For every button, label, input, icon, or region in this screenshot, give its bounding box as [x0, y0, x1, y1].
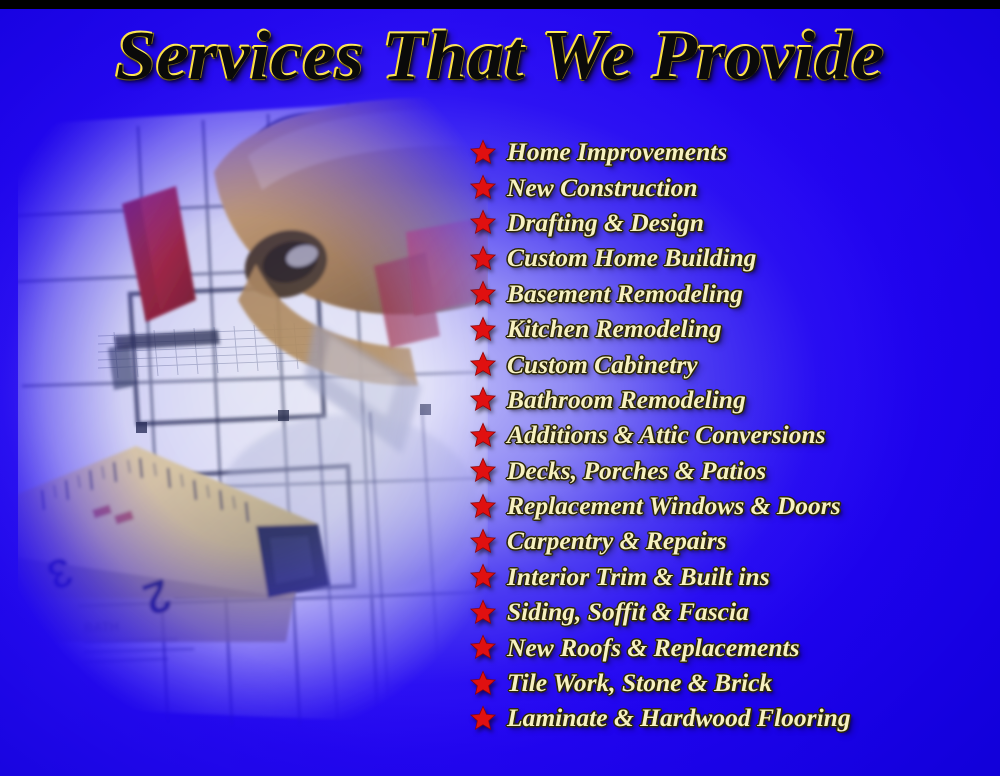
list-item: Carpentry & Repairs: [470, 524, 990, 559]
red-star-icon: [470, 316, 496, 342]
list-item-label: Custom Cabinetry: [507, 353, 698, 378]
red-star-icon: [470, 209, 496, 235]
red-star-icon: [470, 528, 496, 554]
list-item-label: New Construction: [507, 176, 698, 201]
list-item-label: Custom Home Building: [507, 246, 756, 271]
red-star-icon: [470, 599, 496, 625]
list-item: Home Improvements: [470, 135, 990, 170]
red-star-icon: [470, 139, 496, 165]
top-black-bar: [0, 0, 1000, 9]
red-star-icon: [470, 457, 496, 483]
list-item-label: Carpentry & Repairs: [507, 529, 727, 554]
page-title: Services That We Provide: [0, 22, 1000, 92]
list-item: Custom Home Building: [470, 241, 990, 276]
list-item: Tile Work, Stone & Brick: [470, 666, 990, 701]
list-item: Drafting & Design: [470, 206, 990, 241]
list-item: Bathroom Remodeling: [470, 383, 990, 418]
list-item: Replacement Windows & Doors: [470, 489, 990, 524]
services-poster: BATH: [0, 0, 1000, 776]
list-item: Custom Cabinetry: [470, 347, 990, 382]
list-item-label: Replacement Windows & Doors: [507, 494, 841, 519]
red-star-icon: [470, 634, 496, 660]
list-item: Laminate & Hardwood Flooring: [470, 701, 990, 736]
red-star-icon: [470, 670, 496, 696]
services-list: Home Improvements New Construction Draft…: [470, 135, 990, 737]
list-item-label: Drafting & Design: [507, 211, 704, 236]
list-item-label: Kitchen Remodeling: [507, 317, 722, 342]
red-star-icon: [470, 245, 496, 271]
list-item: Siding, Soffit & Fascia: [470, 595, 990, 630]
list-item-label: Additions & Attic Conversions: [507, 423, 826, 448]
list-item: Kitchen Remodeling: [470, 312, 990, 347]
list-item-label: New Roofs & Replacements: [507, 636, 800, 661]
list-item-label: Bathroom Remodeling: [507, 388, 746, 413]
list-item: Basement Remodeling: [470, 277, 990, 312]
list-item: New Construction: [470, 170, 990, 205]
red-star-icon: [470, 422, 496, 448]
red-star-icon: [470, 493, 496, 519]
list-item-label: Interior Trim & Built ins: [507, 565, 770, 590]
list-item: New Roofs & Replacements: [470, 630, 990, 665]
list-item-label: Basement Remodeling: [507, 282, 743, 307]
red-star-icon: [470, 563, 496, 589]
list-item: Interior Trim & Built ins: [470, 560, 990, 595]
list-item: Additions & Attic Conversions: [470, 418, 990, 453]
list-item-label: Tile Work, Stone & Brick: [507, 671, 772, 696]
list-item-label: Decks, Porches & Patios: [507, 459, 766, 484]
list-item-label: Siding, Soffit & Fascia: [507, 600, 749, 625]
red-star-icon: [470, 280, 496, 306]
red-star-icon: [470, 386, 496, 412]
red-star-icon: [470, 351, 496, 377]
red-star-icon: [470, 174, 496, 200]
red-star-icon: [470, 705, 496, 731]
list-item: Decks, Porches & Patios: [470, 454, 990, 489]
list-item-label: Home Improvements: [507, 140, 727, 165]
list-item-label: Laminate & Hardwood Flooring: [507, 706, 851, 731]
